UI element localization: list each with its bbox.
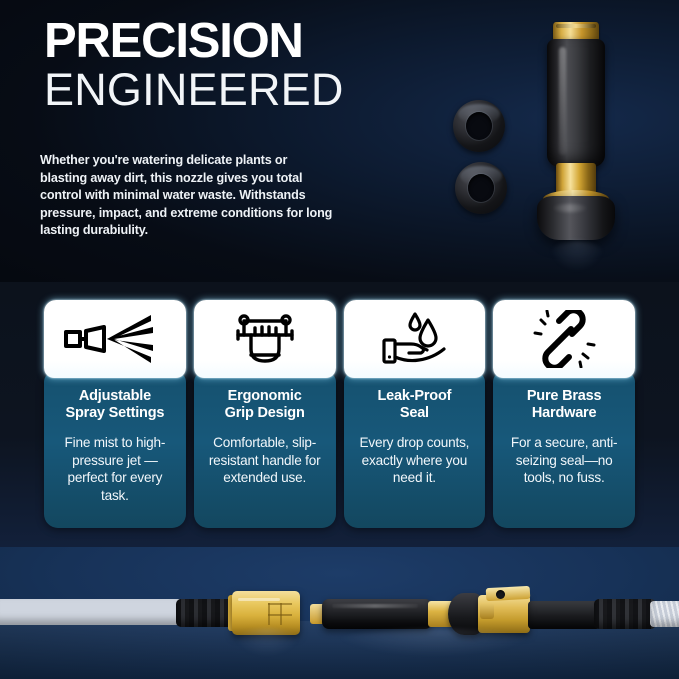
feature-card-pure-brass[interactable]: Pure Brass Hardware For a secure, anti-s… bbox=[493, 300, 635, 528]
valve-stem bbox=[480, 603, 494, 619]
feature-title: Ergonomic Grip Design bbox=[202, 388, 328, 422]
feature-icon-panel bbox=[344, 300, 486, 378]
hose-left bbox=[0, 599, 182, 625]
headline-primary: PRECISION bbox=[44, 16, 444, 66]
product-photo-nozzle-upright bbox=[431, 14, 661, 276]
feature-card-body: Leak-Proof Seal Every drop counts, exact… bbox=[344, 372, 486, 528]
feature-title-line2: Grip Design bbox=[225, 405, 305, 421]
feature-title: Pure Brass Hardware bbox=[501, 388, 627, 422]
product-infographic: PRECISION ENGINEERED Whether you're wate… bbox=[0, 0, 679, 679]
feature-title-line1: Ergonomic bbox=[228, 388, 302, 404]
spray-nozzle-icon bbox=[63, 312, 167, 366]
headline-secondary: ENGINEERED bbox=[44, 66, 444, 114]
hose-right bbox=[650, 601, 679, 627]
bottom-product-photo bbox=[0, 547, 679, 679]
features-section: Adjustable Spray Settings Fine mist to h… bbox=[0, 282, 679, 547]
feature-card-body: Pure Brass Hardware For a secure, anti-s… bbox=[493, 372, 635, 528]
headline-group: PRECISION ENGINEERED bbox=[44, 16, 444, 114]
valve-lever bbox=[486, 586, 531, 601]
hero-description: Whether you're watering delicate plants … bbox=[40, 152, 335, 240]
feature-description: For a secure, anti-seizing seal—no tools… bbox=[501, 434, 627, 487]
feature-card-ergonomic-grip[interactable]: Ergonomic Grip Design Comfortable, slip-… bbox=[194, 300, 336, 528]
feature-description: Fine mist to high-pressure jet — perfect… bbox=[52, 434, 178, 504]
feature-icon-panel bbox=[493, 300, 635, 378]
nozzle-horizontal bbox=[322, 599, 432, 629]
hand-grip-icon bbox=[232, 311, 298, 367]
nozzle-base bbox=[537, 196, 615, 240]
feature-title-line1: Pure Brass bbox=[527, 388, 602, 404]
feature-description: Comfortable, slip-resistant handle for e… bbox=[202, 434, 328, 487]
feature-title-line2: Seal bbox=[400, 405, 429, 421]
feature-card-body: Adjustable Spray Settings Fine mist to h… bbox=[44, 372, 186, 528]
feature-title-line2: Hardware bbox=[532, 405, 597, 421]
washer-ring-bottom bbox=[455, 162, 507, 214]
valve-pivot-dot bbox=[496, 590, 505, 599]
hero-section: PRECISION ENGINEERED Whether you're wate… bbox=[0, 0, 679, 282]
washer-hole bbox=[468, 174, 494, 202]
washer-hole bbox=[466, 112, 492, 140]
strain-relief-left bbox=[176, 599, 236, 627]
nozzle-reflection bbox=[549, 241, 605, 271]
feature-icon-panel bbox=[44, 300, 186, 378]
feature-card-leak-proof-seal[interactable]: Leak-Proof Seal Every drop counts, exact… bbox=[344, 300, 486, 528]
photo-floor-reflection bbox=[0, 621, 679, 679]
feature-title-line1: Adjustable bbox=[79, 388, 151, 404]
feature-card-list: Adjustable Spray Settings Fine mist to h… bbox=[44, 300, 635, 528]
feature-title: Leak-Proof Seal bbox=[352, 388, 478, 422]
hose-braided-texture bbox=[0, 599, 182, 625]
feature-title-line1: Leak-Proof bbox=[378, 388, 452, 404]
washer-ring-top bbox=[453, 100, 505, 152]
feature-icon-panel bbox=[194, 300, 336, 378]
feature-description: Every drop counts, exactly where you nee… bbox=[352, 434, 478, 487]
nozzle-rubber-barrel bbox=[547, 39, 605, 167]
feature-title: Adjustable Spray Settings bbox=[52, 388, 178, 422]
chain-link-icon bbox=[532, 310, 596, 368]
coupler-reflection bbox=[232, 629, 302, 657]
strain-relief-right bbox=[594, 599, 656, 629]
hose-black-sleeve-right bbox=[528, 601, 600, 629]
nozzle-body bbox=[533, 22, 619, 244]
feature-title-line2: Spray Settings bbox=[66, 405, 165, 421]
feature-card-body: Ergonomic Grip Design Comfortable, slip-… bbox=[194, 372, 336, 528]
hand-water-drop-icon bbox=[377, 310, 451, 368]
nozzle-valve-reflection bbox=[330, 629, 540, 657]
feature-card-adjustable-spray[interactable]: Adjustable Spray Settings Fine mist to h… bbox=[44, 300, 186, 528]
